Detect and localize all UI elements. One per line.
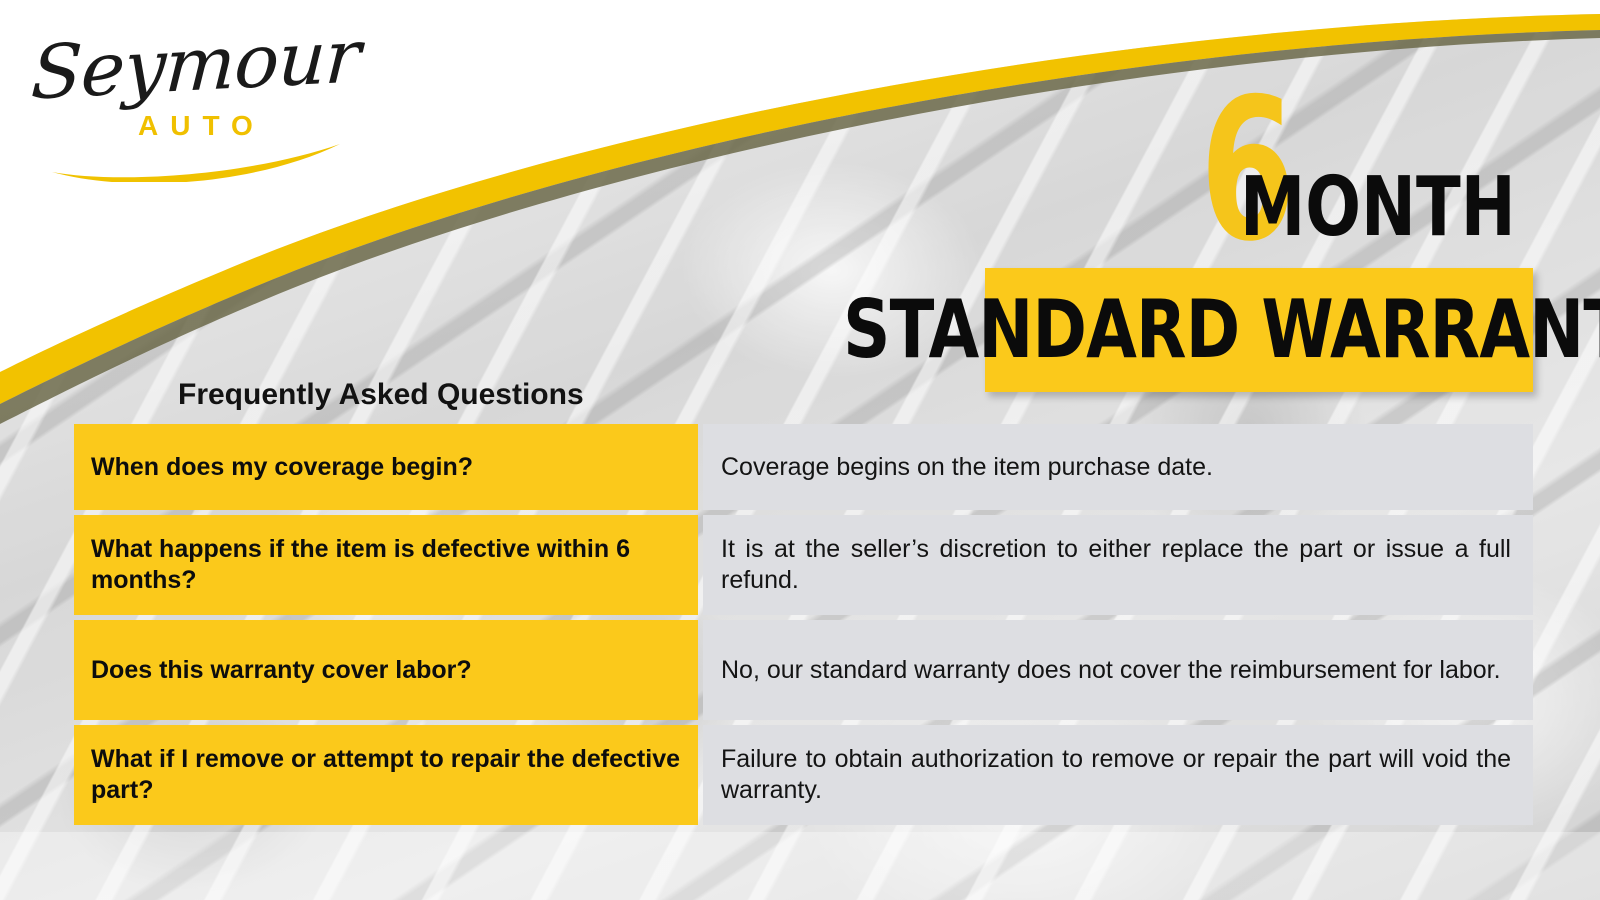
faq-question-cell: What happens if the item is defective wi… (74, 515, 698, 615)
warranty-duration-headline: 6 MONTH (1200, 78, 1585, 248)
faq-answer-cell: No, our standard warranty does not cover… (703, 620, 1533, 720)
faq-answer-text: Failure to obtain authorization to remov… (721, 744, 1511, 806)
faq-answer-cell: Coverage begins on the item purchase dat… (703, 424, 1533, 510)
logo-wordmark: Seymour (29, 14, 362, 117)
table-row: What if I remove or attempt to repair th… (74, 725, 1533, 825)
faq-table: When does my coverage begin? Coverage be… (74, 424, 1533, 825)
faq-question-text: What happens if the item is defective wi… (91, 534, 680, 596)
faq-answer-text: Coverage begins on the item purchase dat… (721, 452, 1511, 483)
brand-logo: Seymour AUTO (30, 18, 330, 178)
logo-swoosh-icon (48, 136, 348, 182)
faq-question-text: When does my coverage begin? (91, 452, 473, 483)
faq-question-cell: What if I remove or attempt to repair th… (74, 725, 698, 825)
faq-answer-text: It is at the seller’s discretion to eith… (721, 534, 1511, 596)
warranty-slide: Seymour AUTO 6 MONTH STANDARD WARRANTY F… (0, 0, 1600, 900)
banner-label: STANDARD WARRANTY (844, 290, 1600, 370)
table-row: Does this warranty cover labor? No, our … (74, 620, 1533, 720)
duration-unit: MONTH (1240, 173, 1516, 248)
faq-question-cell: When does my coverage begin? (74, 424, 698, 510)
faq-answer-text: No, our standard warranty does not cover… (721, 655, 1511, 686)
table-row: When does my coverage begin? Coverage be… (74, 424, 1533, 510)
faq-section-title: Frequently Asked Questions (178, 378, 584, 412)
faq-question-text: What if I remove or attempt to repair th… (91, 744, 680, 806)
table-row: What happens if the item is defective wi… (74, 515, 1533, 615)
faq-answer-cell: It is at the seller’s discretion to eith… (703, 515, 1533, 615)
faq-question-cell: Does this warranty cover labor? (74, 620, 698, 720)
faq-question-text: Does this warranty cover labor? (91, 655, 472, 686)
faq-answer-cell: Failure to obtain authorization to remov… (703, 725, 1533, 825)
standard-warranty-banner: STANDARD WARRANTY (985, 268, 1533, 392)
